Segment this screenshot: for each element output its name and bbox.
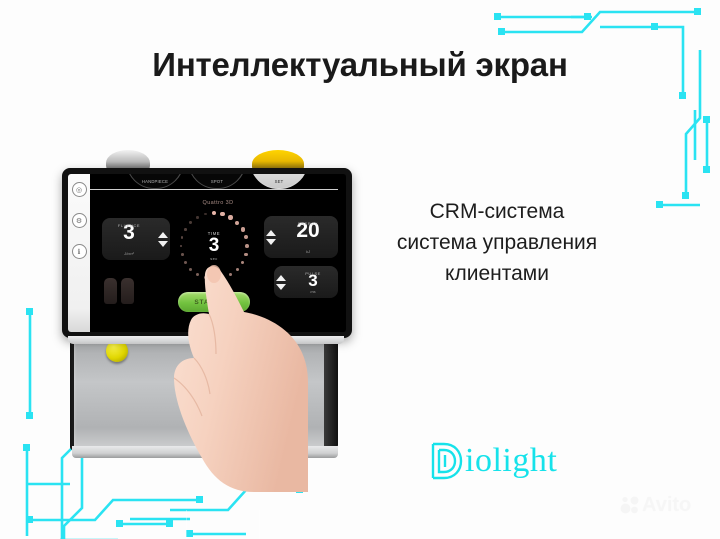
- hand-pointing-illustration: [158, 262, 308, 492]
- fluence-unit: J/cm²: [102, 251, 156, 256]
- fluence-card[interactable]: FLUENCE 3 J/cm²: [102, 218, 170, 260]
- energy-stepper[interactable]: [264, 230, 278, 245]
- screen-mode-title: Quattro 3D: [90, 200, 346, 206]
- device-illustration: STOP ◎ ⚙ ℹ HANDPIECE SPOT SET Quattro 3: [62, 150, 352, 460]
- page-title: Интеллектуальный экран: [0, 46, 720, 84]
- tab-handpiece[interactable]: HANDPIECE: [126, 174, 184, 189]
- d-monogram-icon: [428, 440, 464, 482]
- fluence-readout: FLUENCE 3 J/cm²: [102, 218, 156, 260]
- thumbnail-item[interactable]: [121, 278, 134, 304]
- dial-value: 3: [209, 236, 220, 256]
- energy-readout: ENERGY 20 kJ: [278, 216, 338, 258]
- feature-description: CRM-система система управления клиентами: [352, 196, 642, 289]
- screen-tabs: HANDPIECE SPOT SET: [90, 174, 346, 198]
- description-line-3: клиентами: [352, 258, 642, 289]
- screen-icon-rail: ◎ ⚙ ℹ: [68, 174, 90, 332]
- chevron-up-icon[interactable]: [158, 232, 168, 238]
- chevron-down-icon[interactable]: [158, 241, 168, 247]
- tab-set[interactable]: SET: [250, 174, 308, 189]
- patient-icon[interactable]: ◎: [72, 182, 87, 197]
- description-line-1: CRM-система: [352, 196, 642, 227]
- brand-logo: iolight: [428, 440, 557, 482]
- thumbnail-item[interactable]: [104, 278, 117, 304]
- energy-unit: kJ: [278, 249, 338, 254]
- energy-card[interactable]: ENERGY 20 kJ: [264, 216, 338, 258]
- description-line-2: система управления: [352, 227, 642, 258]
- panel-seam: [186, 510, 260, 539]
- chevron-down-icon[interactable]: [266, 239, 276, 245]
- tab-spot[interactable]: SPOT: [188, 174, 246, 189]
- energy-label: ENERGY: [278, 221, 338, 226]
- promo-banner: Интеллектуальный экран CRM-система систе…: [0, 0, 720, 539]
- settings-icon[interactable]: ⚙: [72, 213, 87, 228]
- fluence-stepper[interactable]: [156, 232, 170, 247]
- avito-wordmark: Avito: [642, 495, 691, 515]
- avito-watermark: Avito: [620, 495, 691, 515]
- chevron-up-icon[interactable]: [266, 230, 276, 236]
- avito-dots-icon: [620, 495, 640, 515]
- treatment-thumbnails[interactable]: [104, 278, 134, 304]
- logo-wordmark: iolight: [465, 444, 557, 478]
- info-icon[interactable]: ℹ: [72, 244, 87, 259]
- fluence-label: FLUENCE: [102, 223, 156, 228]
- chassis-side-right: [324, 328, 338, 448]
- dial-unit: sec: [210, 256, 217, 261]
